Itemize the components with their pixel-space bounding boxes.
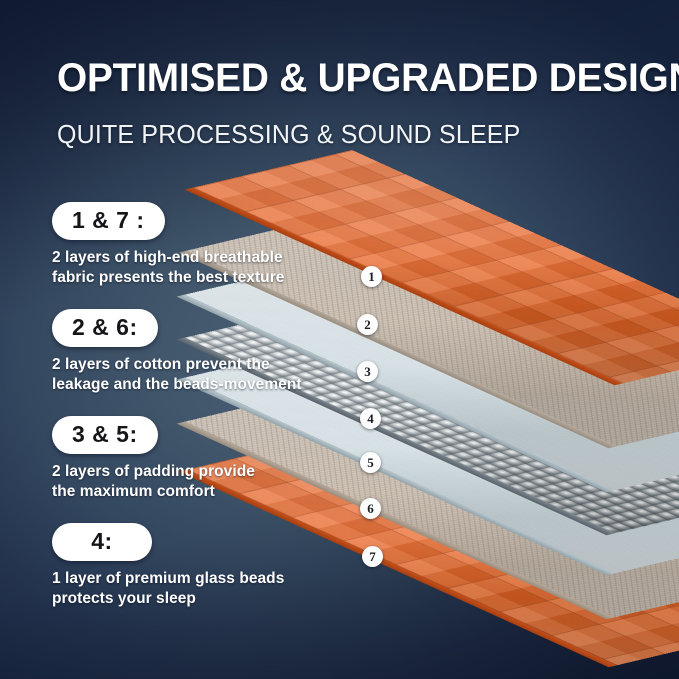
layer-badge-5: 5 — [360, 452, 381, 473]
layer-badge-4: 4 — [360, 408, 381, 429]
layer-badge-1: 1 — [361, 266, 382, 287]
layer-badge-2-number: 2 — [364, 318, 371, 331]
layer-badge-7-number: 7 — [369, 550, 376, 563]
layer-badge-3: 3 — [357, 361, 378, 382]
layer-number-badges: 1 2 3 4 5 6 7 — [0, 0, 679, 679]
layer-badge-6-number: 6 — [367, 502, 374, 515]
layer-badge-4-number: 4 — [367, 412, 374, 425]
layer-badge-5-number: 5 — [367, 456, 374, 469]
layer-badge-2: 2 — [357, 314, 378, 335]
layer-badge-6: 6 — [360, 498, 381, 519]
layer-badge-3-number: 3 — [364, 365, 371, 378]
layer-badge-1-number: 1 — [368, 270, 375, 283]
infographic-canvas: 1 2 3 4 5 6 7 OPTIMISED & UPGRADED DESIG… — [0, 0, 679, 679]
layer-badge-7: 7 — [362, 546, 383, 567]
